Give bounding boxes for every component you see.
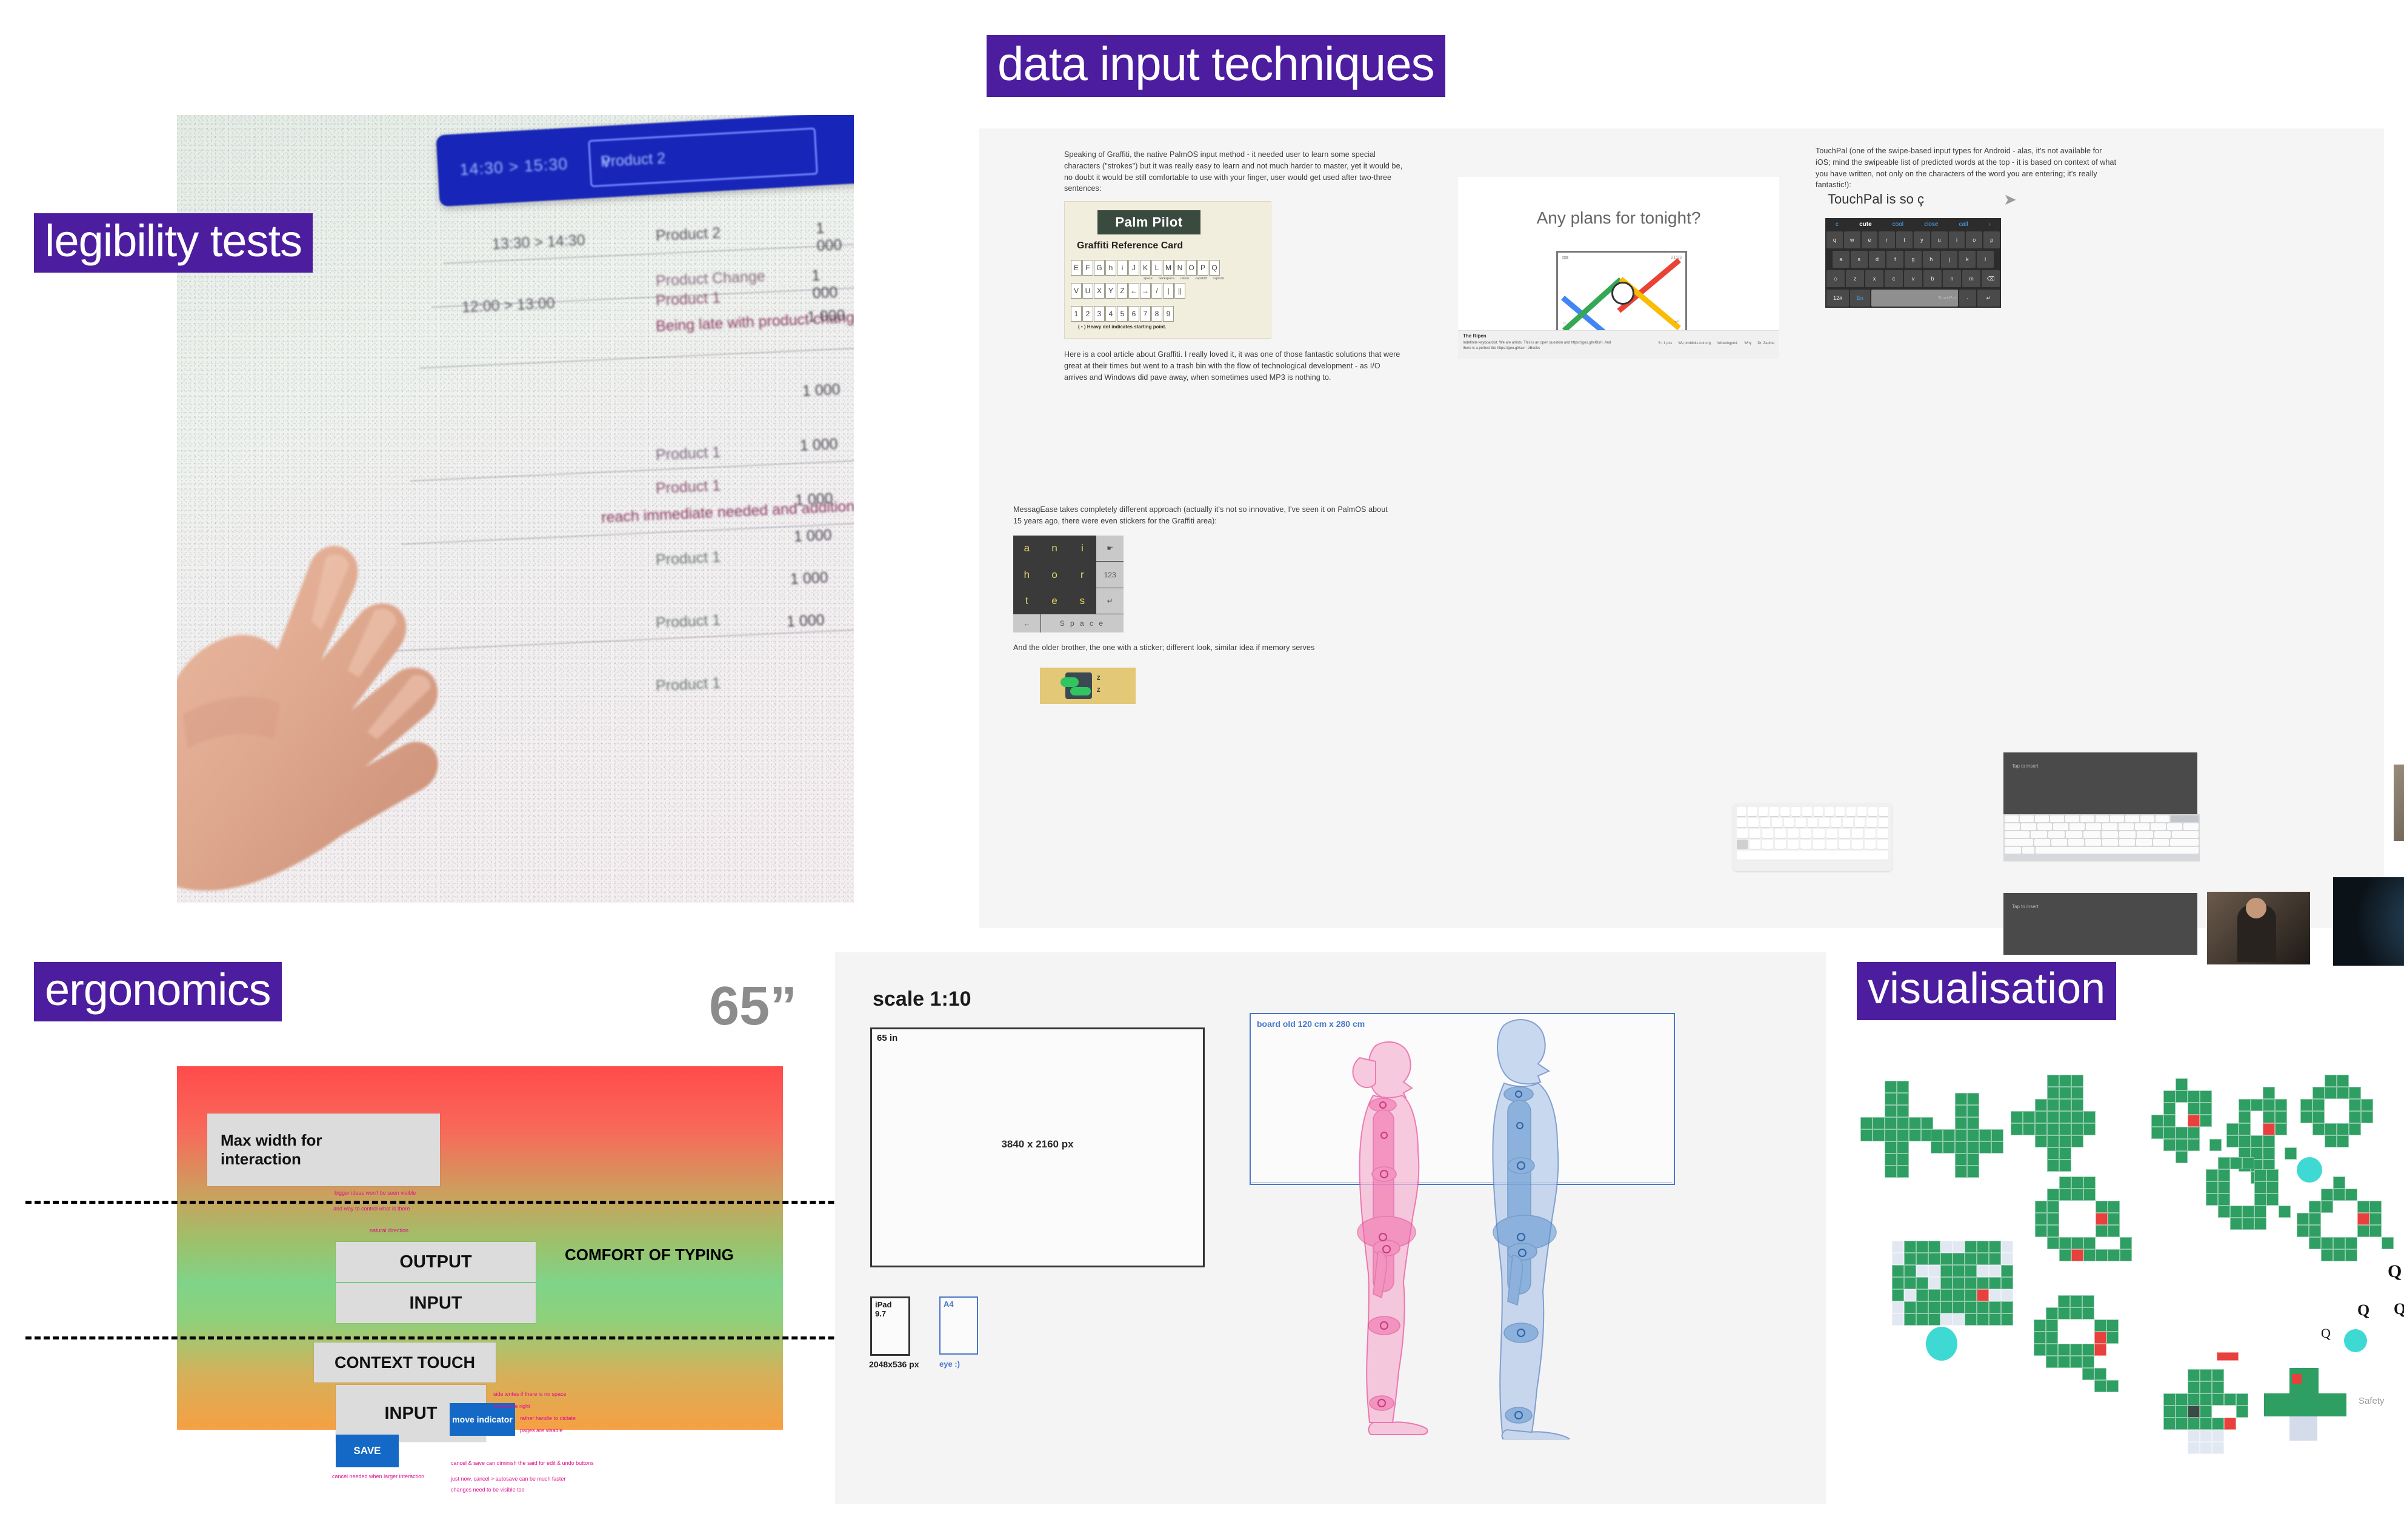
- prediction-item[interactable]: cool: [1893, 221, 1903, 228]
- graffiti-cell: N: [1174, 260, 1185, 276]
- key[interactable]: [2119, 831, 2136, 838]
- key[interactable]: [1819, 818, 1829, 827]
- row-amount: 1 000: [807, 307, 849, 326]
- key[interactable]: [2005, 823, 2020, 830]
- key[interactable]: [2068, 839, 2084, 846]
- chevron-down-icon: ∨: [600, 142, 802, 171]
- me-key[interactable]: e: [1041, 588, 1068, 614]
- row-name: Product Change: [655, 268, 765, 290]
- handwriting-canvas[interactable]: ⌨ 21:23 ↵ ☼: [1556, 251, 1687, 332]
- key[interactable]: k: [1959, 251, 1976, 268]
- key[interactable]: [1762, 840, 1773, 849]
- graffiti-cell: U: [1082, 283, 1093, 299]
- scale-title: scale 1:10: [873, 987, 971, 1011]
- key[interactable]: [1846, 807, 1856, 816]
- key[interactable]: e: [1862, 231, 1878, 248]
- key[interactable]: [1826, 840, 1837, 849]
- graffiti-card-title: Graffiti Reference Card: [1077, 241, 1183, 251]
- key[interactable]: [1855, 818, 1865, 827]
- space-key[interactable]: TouchPal: [1871, 290, 1958, 307]
- key[interactable]: [2102, 823, 2117, 830]
- touchpal-keyboard[interactable]: c cute cool close call › q w e r t y u i…: [1825, 218, 2001, 308]
- key[interactable]: z: [1846, 270, 1864, 287]
- graffiti-arrow-right: →: [1140, 283, 1151, 299]
- key[interactable]: [1802, 807, 1811, 816]
- board-baseline: [1250, 1183, 1673, 1183]
- keyboard-row: [2005, 847, 2199, 854]
- numeric-key[interactable]: [2005, 847, 2021, 854]
- data-input-board: Speaking of Graffiti, the native PalmOS …: [979, 128, 2384, 928]
- ergo-note: changes need to be visible too: [451, 1487, 525, 1493]
- key[interactable]: x: [1865, 270, 1883, 287]
- cyan-dot: [2297, 1157, 2322, 1183]
- key[interactable]: [2085, 839, 2101, 846]
- key[interactable]: [2066, 831, 2082, 838]
- key[interactable]: [1865, 829, 1876, 838]
- meta-item: Dr. Zapine: [1757, 342, 1774, 345]
- graffiti-footnote: ( • ) Heavy dot indicates starting point…: [1078, 324, 1166, 330]
- key[interactable]: [2096, 815, 2109, 822]
- graffiti-cell: 4: [1105, 306, 1116, 322]
- row-name: Product 1: [655, 612, 721, 632]
- key[interactable]: [1813, 829, 1824, 838]
- key[interactable]: [2151, 823, 2166, 830]
- lower-threshold-line: [25, 1336, 934, 1339]
- key[interactable]: [1866, 818, 1876, 827]
- key[interactable]: [2053, 823, 2068, 830]
- row-amount: 1 000: [816, 219, 850, 255]
- ergo-note: pages are visable: [520, 1427, 563, 1434]
- graffiti-cell: P: [1197, 260, 1208, 276]
- graffiti-letters-row-2: V U X Y Z ← → / | ||: [1071, 283, 1185, 299]
- ergo-note: preferable right: [493, 1403, 530, 1410]
- key[interactable]: [2135, 823, 2150, 830]
- graffiti-cell: J: [1128, 260, 1139, 276]
- key[interactable]: [2051, 839, 2067, 846]
- language-key[interactable]: En: [1850, 290, 1870, 307]
- graffiti-cell: V: [1071, 283, 1082, 299]
- key[interactable]: [2069, 823, 2085, 830]
- return-key[interactable]: [1877, 829, 1888, 838]
- touchpal-row-4: 12# En TouchPal · ↵: [1825, 288, 2001, 308]
- shift-key[interactable]: ⬦: [1826, 270, 1845, 287]
- key[interactable]: [2140, 815, 2154, 822]
- ergonomics-section-label: ergonomics: [34, 962, 282, 1021]
- space-key[interactable]: [2036, 847, 2199, 854]
- key[interactable]: [1796, 818, 1805, 827]
- dark-pane-placeholder: Tap to insert: [2012, 763, 2039, 769]
- graffiti-key-label: backspace: [1159, 277, 1174, 280]
- dark-pane-placeholder: Tap to insert: [2012, 904, 2039, 909]
- row-name: Product 1: [655, 444, 721, 465]
- row-amount: 1 000: [793, 526, 849, 546]
- caps-key[interactable]: [2005, 831, 2029, 838]
- send-icon[interactable]: ➤: [2003, 190, 2017, 209]
- key[interactable]: [2156, 815, 2169, 822]
- key[interactable]: u: [1931, 231, 1948, 248]
- key[interactable]: q: [1826, 231, 1843, 248]
- ipad-resolution-label: 2048x536 px: [869, 1359, 919, 1369]
- screen-resolution-label: 3840 x 2160 px: [872, 1138, 1203, 1150]
- a4-rect: A4: [939, 1296, 978, 1355]
- row-amount: 1 000: [799, 435, 849, 455]
- film-still-2: [2207, 892, 2310, 964]
- graffiti-cell: K: [1140, 260, 1151, 276]
- prediction-item[interactable]: c: [1836, 221, 1839, 228]
- meta-item: We prohibits not org: [1678, 342, 1711, 345]
- key[interactable]: [1857, 807, 1866, 816]
- key[interactable]: [2065, 815, 2079, 822]
- graffiti-cell: L: [1151, 260, 1162, 276]
- enter-key[interactable]: ↵: [1977, 290, 2000, 307]
- max-width-box: Max width for interaction: [207, 1114, 440, 1186]
- ergonomics-diagram: Max width for interaction bigger ideas w…: [177, 1066, 783, 1430]
- red-marker: [2217, 1352, 2239, 1361]
- me-key[interactable]: o: [1041, 562, 1068, 587]
- graffiti-cell: Y: [1105, 283, 1116, 299]
- row-time: 13:30 > 14:30: [491, 232, 585, 254]
- ergo-note: just now, cancel > autosave can be much …: [451, 1476, 565, 1482]
- prediction-item[interactable]: close: [1924, 221, 1938, 228]
- key[interactable]: [2021, 823, 2036, 830]
- key[interactable]: [1808, 818, 1817, 827]
- touchpal-row-2: a s d f g h j k l: [1825, 250, 2001, 269]
- female-figure: [1338, 1037, 1435, 1437]
- shift-key[interactable]: [2005, 839, 2033, 846]
- screen-toolbar: 14:30 > 15:30 Product 2 ∨: [436, 115, 854, 207]
- graffiti-arrow-left: ←: [1128, 283, 1139, 299]
- me-key[interactable]: n: [1041, 536, 1068, 561]
- ipad-rect: iPad 9.7: [870, 1296, 910, 1356]
- scale-panel: scale 1:10 65 in 3840 x 2160 px iPad 9.7…: [835, 952, 1826, 1504]
- save-button[interactable]: SAVE: [336, 1435, 399, 1467]
- key[interactable]: o: [1966, 231, 1982, 248]
- graffiti-cell: 1: [1071, 306, 1082, 322]
- key[interactable]: [1770, 807, 1779, 816]
- key[interactable]: [1791, 807, 1800, 816]
- touchpal-input-text: TouchPal is so ç: [1828, 191, 1924, 207]
- ergo-note: cancel needed when larger interaction: [332, 1473, 424, 1480]
- handwriting-footer-heading: The Ripen: [1463, 333, 1487, 339]
- graffiti-cell: Q: [1209, 260, 1220, 276]
- key[interactable]: [2034, 839, 2050, 846]
- backspace-key[interactable]: ←: [1013, 614, 1041, 632]
- key[interactable]: [1762, 829, 1773, 838]
- key[interactable]: [1814, 807, 1823, 816]
- meta-item: 5 / 1 pcs: [1659, 342, 1673, 345]
- key[interactable]: [2037, 823, 2053, 830]
- meta-item: Why: [1744, 342, 1751, 345]
- key[interactable]: [1836, 807, 1845, 816]
- key[interactable]: [1775, 829, 1786, 838]
- key[interactable]: [1879, 818, 1888, 827]
- board-rect: board old 120 cm x 280 cm: [1250, 1013, 1675, 1185]
- backspace-key[interactable]: ⌫: [1982, 270, 2000, 287]
- key[interactable]: [2050, 815, 2064, 822]
- graffiti-cell: G: [1094, 260, 1105, 276]
- key[interactable]: [1865, 840, 1876, 849]
- key[interactable]: i: [1949, 231, 1965, 248]
- key[interactable]: [2083, 831, 2100, 838]
- row-amount: 1 000: [790, 568, 849, 588]
- key[interactable]: [1826, 829, 1837, 838]
- graffiti-slash: /: [1151, 283, 1162, 299]
- key[interactable]: [1750, 829, 1760, 838]
- key[interactable]: [2102, 839, 2118, 846]
- key[interactable]: [2125, 815, 2139, 822]
- visualisation-section-label: visualisation: [1857, 962, 2116, 1020]
- key[interactable]: [1800, 829, 1811, 838]
- row-amount: 1 000: [786, 611, 849, 631]
- handwriting-footer-body: Indefinite keyboardist. We are artists. …: [1463, 340, 1614, 351]
- backspace-key[interactable]: [1879, 807, 1888, 816]
- hand-silhouette: [177, 376, 534, 897]
- key[interactable]: [1748, 818, 1758, 827]
- q-letter-glyph: Q: [2394, 1300, 2404, 1318]
- row-amount: 1 000: [811, 266, 850, 303]
- graffiti-cell: 3: [1094, 306, 1105, 322]
- graffiti-double-bar: ||: [1174, 283, 1185, 299]
- key[interactable]: [2020, 815, 2034, 822]
- key[interactable]: [1750, 840, 1760, 849]
- graffiti-key-label: capshift: [1195, 277, 1207, 280]
- visualisation-panel: Q Q Q Q Safety: [1848, 1066, 2404, 1490]
- key[interactable]: y: [1914, 231, 1930, 248]
- key[interactable]: s: [1851, 251, 1868, 268]
- period-key[interactable]: ·: [1959, 290, 1976, 307]
- return-key[interactable]: [2172, 831, 2199, 838]
- numeric-key[interactable]: 123: [1096, 562, 1124, 587]
- touchpal-row-1: q w e r t y u i o p: [1825, 230, 2001, 250]
- data-input-section-label: data input techniques: [987, 35, 1445, 97]
- handwriting-card: Any plans for tonight? ⌨ 21:23 ↵ ☼ The R…: [1458, 177, 1779, 359]
- space-key[interactable]: S p a c e: [1041, 614, 1124, 632]
- key[interactable]: [2183, 823, 2199, 830]
- toolbar-product-select[interactable]: Product 2 ∨: [588, 127, 818, 187]
- graffiti-key-label: caplock: [1213, 277, 1224, 280]
- input-box: INPUT: [336, 1283, 536, 1323]
- q-letter-glyph: Q: [2388, 1261, 2402, 1282]
- key[interactable]: g: [1905, 251, 1922, 268]
- key[interactable]: c: [1885, 270, 1903, 287]
- key[interactable]: [1831, 818, 1841, 827]
- shift-key[interactable]: [2170, 839, 2199, 846]
- graffiti-cell: 6: [1128, 306, 1139, 322]
- legibility-section-label: legibility tests: [34, 213, 313, 273]
- key[interactable]: [1788, 840, 1799, 849]
- key[interactable]: [2086, 823, 2101, 830]
- keyboard-row: [1737, 851, 1888, 860]
- prediction-item[interactable]: cute: [1859, 221, 1872, 228]
- me-key[interactable]: a: [1013, 536, 1041, 561]
- row-divider: [419, 347, 854, 368]
- keyboard-row: [2005, 823, 2199, 830]
- key[interactable]: [2031, 831, 2047, 838]
- prediction-more-icon[interactable]: ›: [1989, 221, 1991, 228]
- keyboard-row: [2005, 831, 2199, 838]
- key[interactable]: [2080, 815, 2094, 822]
- key[interactable]: [1839, 840, 1850, 849]
- row-name: Product 1: [655, 675, 721, 695]
- apple-keyboard: [1733, 803, 1892, 871]
- a4-label: A4: [944, 1299, 954, 1309]
- messagease-keyboard[interactable]: a n i ☛ h o r 123 t e s ↵ ← S p a c e: [1013, 536, 1124, 632]
- handwriting-footer-meta: 5 / 1 pcs We prohibits not org following…: [1659, 342, 1774, 345]
- safety-cross-icon: [2264, 1368, 2346, 1441]
- cyan-dot: [2344, 1329, 2367, 1352]
- key[interactable]: [1800, 840, 1811, 849]
- key[interactable]: [1737, 807, 1746, 816]
- hand-pointer-icon[interactable]: ☛: [1096, 536, 1124, 561]
- numeric-key[interactable]: 12#: [1826, 290, 1849, 307]
- key[interactable]: [2119, 839, 2135, 846]
- touchpal-row-3: ⬦ z x c v b n m ⌫: [1825, 269, 2001, 288]
- key[interactable]: m: [1962, 270, 1980, 287]
- meta-item: followingprot.: [1717, 342, 1738, 345]
- keyboard-row: [1737, 818, 1888, 827]
- backspace-key[interactable]: [2171, 815, 2199, 822]
- output-box: OUTPUT: [336, 1242, 536, 1282]
- graffiti-numbers-row: 1 2 3 4 5 6 7 8 9: [1071, 306, 1174, 322]
- key[interactable]: [2110, 815, 2124, 822]
- key[interactable]: t: [1896, 231, 1913, 248]
- safety-label: Safety: [2359, 1396, 2385, 1406]
- screen-size-label: 65”: [709, 975, 797, 1038]
- graffiti-key-label: return: [1180, 277, 1189, 280]
- ergo-note: cancel & save can diminish the said for …: [451, 1460, 594, 1467]
- keyboard-row: [1737, 829, 1888, 838]
- key[interactable]: [2136, 839, 2152, 846]
- key[interactable]: [2119, 823, 2134, 830]
- key[interactable]: l: [1977, 251, 1994, 268]
- messagease-outro: And the older brother, the one with a st…: [1013, 642, 1401, 654]
- sticker-thumbnail: Z Z: [1040, 668, 1136, 704]
- graffiti-cell: h: [1105, 260, 1116, 276]
- ergo-note: rather handle to dictate: [520, 1415, 576, 1422]
- context-touch-box: CONTEXT TOUCH: [314, 1343, 496, 1382]
- key[interactable]: [1788, 829, 1799, 838]
- key[interactable]: [1852, 829, 1863, 838]
- enter-key[interactable]: ↵: [1096, 588, 1124, 614]
- key[interactable]: [2048, 831, 2065, 838]
- shift-key[interactable]: [1877, 840, 1888, 849]
- touchpal-predictions[interactable]: c cute cool close call ›: [1825, 218, 2001, 230]
- me-key[interactable]: h: [1013, 562, 1041, 587]
- key[interactable]: v: [1904, 270, 1922, 287]
- a4-note-label: eye :): [939, 1359, 960, 1369]
- key[interactable]: [1780, 807, 1790, 816]
- prediction-item[interactable]: call: [1959, 221, 1968, 228]
- key[interactable]: [1813, 840, 1824, 849]
- tab-key[interactable]: [1737, 818, 1746, 827]
- key[interactable]: [2153, 839, 2169, 846]
- me-key[interactable]: r: [1069, 562, 1096, 587]
- key[interactable]: j: [1941, 251, 1958, 268]
- key[interactable]: n: [1943, 270, 1961, 287]
- key[interactable]: [2167, 823, 2182, 830]
- me-key[interactable]: i: [1069, 536, 1096, 561]
- key[interactable]: r: [1879, 231, 1895, 248]
- graffiti-cell: 9: [1163, 306, 1174, 322]
- key[interactable]: [2137, 831, 2153, 838]
- key[interactable]: [2035, 815, 2049, 822]
- key[interactable]: [1843, 818, 1853, 827]
- me-key[interactable]: s: [1069, 588, 1096, 614]
- key[interactable]: [1852, 840, 1863, 849]
- ios-keyboard-1[interactable]: [2003, 814, 2200, 861]
- graffiti-cell: Z: [1117, 283, 1128, 299]
- me-key[interactable]: t: [1013, 588, 1041, 614]
- key[interactable]: [1868, 807, 1877, 816]
- key[interactable]: [1748, 807, 1757, 816]
- screen-65in-rect: 65 in 3840 x 2160 px: [870, 1027, 1205, 1267]
- graffiti-cell: E: [1071, 260, 1082, 276]
- graffiti-cell: 2: [1082, 306, 1093, 322]
- space-key[interactable]: [1737, 851, 1888, 860]
- board-label: board old 120 cm x 280 cm: [1257, 1019, 1365, 1029]
- key[interactable]: d: [1869, 251, 1886, 268]
- key[interactable]: [1839, 829, 1850, 838]
- key[interactable]: [2005, 815, 2019, 822]
- key[interactable]: a: [1833, 251, 1850, 268]
- keyboard-row: [1737, 840, 1888, 849]
- key[interactable]: w: [1844, 231, 1860, 248]
- key[interactable]: f: [1886, 251, 1903, 268]
- graffiti-intro: Speaking of Graffiti, the native PalmOS …: [1064, 149, 1403, 194]
- toolbar-time-label: 14:30 > 15:30: [459, 154, 568, 179]
- keyboard-row: [2005, 815, 2199, 822]
- key[interactable]: [1775, 840, 1786, 849]
- emoji-key[interactable]: [2022, 847, 2034, 854]
- graffiti-cell: X: [1094, 283, 1105, 299]
- row-time: 12:00 > 13:00: [461, 295, 555, 317]
- keyboard-row: [2005, 839, 2199, 846]
- row-amount: 1 000: [794, 490, 849, 509]
- q-letter-glyph: Q: [2321, 1326, 2331, 1341]
- key[interactable]: p: [1983, 231, 2000, 248]
- graffiti-cell: 7: [1140, 306, 1151, 322]
- comfort-of-typing-label: COMFORT OF TYPING: [565, 1246, 734, 1264]
- film-still-1: [2394, 765, 2404, 841]
- dark-input-pane-2[interactable]: Tap to insert: [2003, 893, 2197, 955]
- dark-input-pane-1[interactable]: Tap to insert: [2003, 752, 2197, 814]
- graffiti-key-label: space: [1144, 277, 1153, 280]
- key[interactable]: [1760, 818, 1770, 827]
- key[interactable]: [1759, 807, 1768, 816]
- ergo-note: natural direction: [370, 1227, 408, 1234]
- film-still-3: [2333, 877, 2404, 966]
- graffiti-letters-row-1: E F G h i J K L M N O P Q: [1071, 260, 1220, 276]
- key[interactable]: b: [1923, 270, 1942, 287]
- messagease-intro: MessagEase takes completely different ap…: [1013, 504, 1395, 527]
- key[interactable]: [2102, 831, 2118, 838]
- graffiti-reference-card: Palm Pilot Graffiti Reference Card E F G…: [1064, 201, 1271, 339]
- graffiti-outro: Here is a cool article about Graffiti. I…: [1064, 349, 1403, 383]
- ergo-note: and way to control what is there: [333, 1206, 410, 1212]
- key[interactable]: [1772, 818, 1782, 827]
- graffiti-cell: 5: [1117, 306, 1128, 322]
- screen-size-label: 65 in: [877, 1033, 897, 1043]
- key[interactable]: [1784, 818, 1794, 827]
- shift-key[interactable]: [1737, 840, 1748, 849]
- key[interactable]: [1825, 807, 1834, 816]
- key[interactable]: [2154, 831, 2171, 838]
- key[interactable]: h: [1923, 251, 1940, 268]
- graffiti-cell: i: [1117, 260, 1128, 276]
- upper-threshold-line: [25, 1201, 934, 1204]
- row-name: Product 1: [655, 290, 721, 310]
- caps-key[interactable]: [1737, 829, 1748, 838]
